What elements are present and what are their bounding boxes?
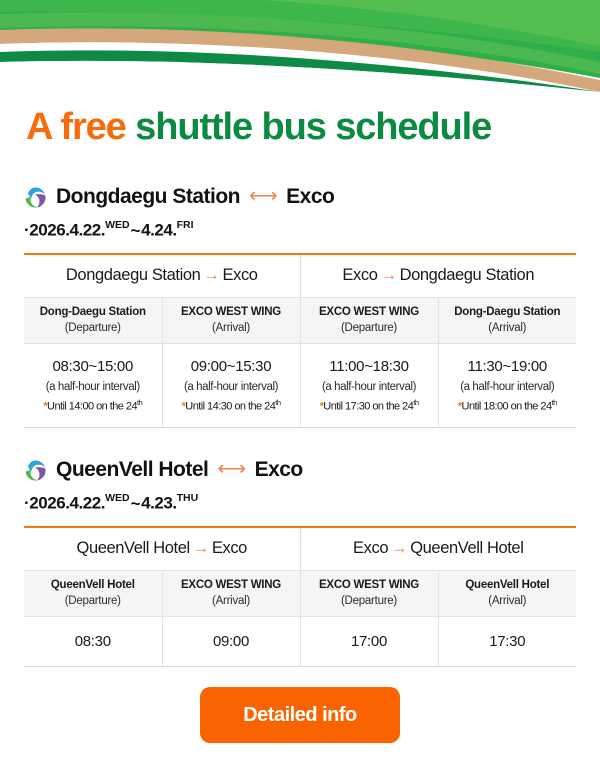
page-title-rest: shuttle bus schedule (135, 106, 491, 148)
subheader-place: EXCO WEST WING (165, 578, 298, 594)
route-from: Dongdaegu Station (56, 185, 240, 209)
direction-from: Dongdaegu Station (66, 266, 200, 284)
table-row-times: 08:30~15:00 (a half-hour interval) *Unti… (24, 344, 576, 428)
section-header: Dongdaegu Station ⟷ Exco (24, 182, 576, 212)
subheader-cell: EXCO WEST WING (Arrival) (162, 571, 300, 617)
direction-to: Exco (223, 266, 258, 284)
schedule-table-queenvell: QueenVell Hotel→Exco Exco→QueenVell Hote… (24, 526, 576, 668)
subheader-place: QueenVell Hotel (441, 578, 575, 594)
time-exception-note: *Until 17:30 on the 24th (303, 398, 436, 415)
arrow-right-icon: → (378, 266, 400, 284)
date-start-weekday: WED (105, 219, 130, 231)
subheader-place: EXCO WEST WING (303, 578, 436, 594)
schedule-section-queenvell: QueenVell Hotel ⟷ Exco ·2026.4.22.WED~4.… (24, 455, 576, 667)
time-range: 08:30 (26, 631, 160, 652)
cta-container: Detailed info (0, 687, 600, 743)
direction-cell-inbound: Exco→Dongdaegu Station (300, 254, 576, 298)
subheader-cell: Dong-Daegu Station (Departure) (24, 298, 162, 344)
subheader-kind: (Departure) (26, 594, 160, 610)
time-interval-note: (a half-hour interval) (26, 379, 160, 395)
section-route-title: QueenVell Hotel ⟷ Exco (56, 458, 303, 482)
schedule-section-dongdaegu: Dongdaegu Station ⟷ Exco ·2026.4.22.WED~… (24, 182, 576, 428)
date-end-weekday: FRI (177, 219, 194, 231)
wave-banner-graphic (0, 0, 600, 92)
subheader-kind: (Arrival) (441, 594, 575, 610)
direction-cell-inbound: Exco→QueenVell Hotel (300, 527, 576, 571)
route-to: Exco (286, 185, 334, 209)
subheader-cell: EXCO WEST WING (Departure) (300, 571, 438, 617)
time-cell: 17:30 (438, 617, 576, 667)
ordinal-suffix: th (413, 398, 418, 407)
section-route-title: Dongdaegu Station ⟷ Exco (56, 185, 334, 209)
date-start: 2026.4.22. (29, 221, 105, 240)
ordinal-suffix: th (137, 398, 142, 407)
direction-to: Dongdaegu Station (400, 266, 534, 284)
subheader-place: Dong-Daegu Station (26, 305, 160, 321)
time-cell: 08:30~15:00 (a half-hour interval) *Unti… (24, 344, 162, 428)
time-interval-note: (a half-hour interval) (165, 379, 298, 395)
globe-icon (24, 459, 47, 482)
time-range: 11:00~18:30 (303, 356, 436, 377)
direction-from: QueenVell Hotel (77, 539, 190, 557)
date-end: 4.24. (141, 221, 177, 240)
time-interval-note: (a half-hour interval) (441, 379, 575, 395)
table-row-directions: QueenVell Hotel→Exco Exco→QueenVell Hote… (24, 527, 576, 571)
double-arrow-icon: ⟷ (249, 186, 277, 206)
wave-banner (0, 0, 600, 92)
ordinal-suffix: th (275, 398, 280, 407)
arrow-right-icon: → (388, 539, 410, 557)
time-exception-note: *Until 18:00 on the 24th (441, 398, 575, 415)
subheader-place: EXCO WEST WING (165, 305, 298, 321)
page-title-highlight: A free (26, 106, 126, 148)
time-interval-note: (a half-hour interval) (303, 379, 436, 395)
time-cell: 09:00 (162, 617, 300, 667)
table-row-subheaders: Dong-Daegu Station (Departure) EXCO WEST… (24, 298, 576, 344)
subheader-kind: (Arrival) (441, 321, 575, 337)
subheader-cell: Dong-Daegu Station (Arrival) (438, 298, 576, 344)
time-range: 17:00 (303, 631, 436, 652)
time-range: 11:30~19:00 (441, 356, 575, 377)
arrow-right-icon: → (190, 539, 212, 557)
exception-text: Until 17:30 on the 24 (323, 400, 413, 412)
schedule-table-dongdaegu: Dongdaegu Station→Exco Exco→Dongdaegu St… (24, 253, 576, 428)
date-start-weekday: WED (105, 492, 130, 504)
route-to: Exco (255, 458, 303, 482)
section-header: QueenVell Hotel ⟷ Exco (24, 455, 576, 485)
subheader-kind: (Departure) (26, 321, 160, 337)
direction-to: QueenVell Hotel (410, 539, 523, 557)
date-end: 4.23. (141, 494, 177, 513)
time-exception-note: *Until 14:00 on the 24th (26, 398, 160, 415)
date-start: 2026.4.22. (29, 494, 105, 513)
time-cell: 11:00~18:30 (a half-hour interval) *Unti… (300, 344, 438, 428)
table-row-subheaders: QueenVell Hotel (Departure) EXCO WEST WI… (24, 571, 576, 617)
time-exception-note: *Until 14:30 on the 24th (165, 398, 298, 415)
exception-text: Until 14:00 on the 24 (47, 400, 137, 412)
direction-cell-outbound: Dongdaegu Station→Exco (24, 254, 300, 298)
exception-text: Until 14:30 on the 24 (185, 400, 275, 412)
time-cell: 17:00 (300, 617, 438, 667)
date-end-weekday: THU (177, 492, 199, 504)
arrow-right-icon: → (200, 266, 222, 284)
shuttle-bus-schedule-page: A free shuttle bus schedule Dongdaegu St… (0, 0, 600, 774)
subheader-cell: QueenVell Hotel (Departure) (24, 571, 162, 617)
time-range: 09:00 (165, 631, 298, 652)
date-tilde: ~ (130, 494, 141, 513)
time-range: 09:00~15:30 (165, 356, 298, 377)
table-row-directions: Dongdaegu Station→Exco Exco→Dongdaegu St… (24, 254, 576, 298)
date-tilde: ~ (130, 221, 141, 240)
subheader-kind: (Departure) (303, 594, 436, 610)
ordinal-suffix: th (552, 398, 557, 407)
direction-to: Exco (212, 539, 247, 557)
subheader-cell: EXCO WEST WING (Departure) (300, 298, 438, 344)
exception-text: Until 18:00 on the 24 (462, 400, 552, 412)
direction-from: Exco (353, 539, 388, 557)
globe-icon (24, 186, 47, 209)
direction-from: Exco (342, 266, 377, 284)
detailed-info-button[interactable]: Detailed info (200, 687, 400, 743)
route-from: QueenVell Hotel (56, 458, 208, 482)
time-cell: 08:30 (24, 617, 162, 667)
double-arrow-icon: ⟷ (217, 459, 245, 479)
subheader-cell: EXCO WEST WING (Arrival) (162, 298, 300, 344)
time-cell: 11:30~19:00 (a half-hour interval) *Unti… (438, 344, 576, 428)
section-date-range: ·2026.4.22.WED~4.23.THU (24, 494, 576, 512)
subheader-kind: (Arrival) (165, 594, 298, 610)
subheader-kind: (Departure) (303, 321, 436, 337)
direction-cell-outbound: QueenVell Hotel→Exco (24, 527, 300, 571)
subheader-place: QueenVell Hotel (26, 578, 160, 594)
table-row-times: 08:30 09:00 17:00 17:30 (24, 617, 576, 667)
time-range: 08:30~15:00 (26, 356, 160, 377)
subheader-place: Dong-Daegu Station (441, 305, 575, 321)
subheader-place: EXCO WEST WING (303, 305, 436, 321)
subheader-kind: (Arrival) (165, 321, 298, 337)
page-title: A free shuttle bus schedule (26, 108, 491, 148)
time-cell: 09:00~15:30 (a half-hour interval) *Unti… (162, 344, 300, 428)
subheader-cell: QueenVell Hotel (Arrival) (438, 571, 576, 617)
time-range: 17:30 (441, 631, 575, 652)
section-date-range: ·2026.4.22.WED~4.24.FRI (24, 221, 576, 239)
